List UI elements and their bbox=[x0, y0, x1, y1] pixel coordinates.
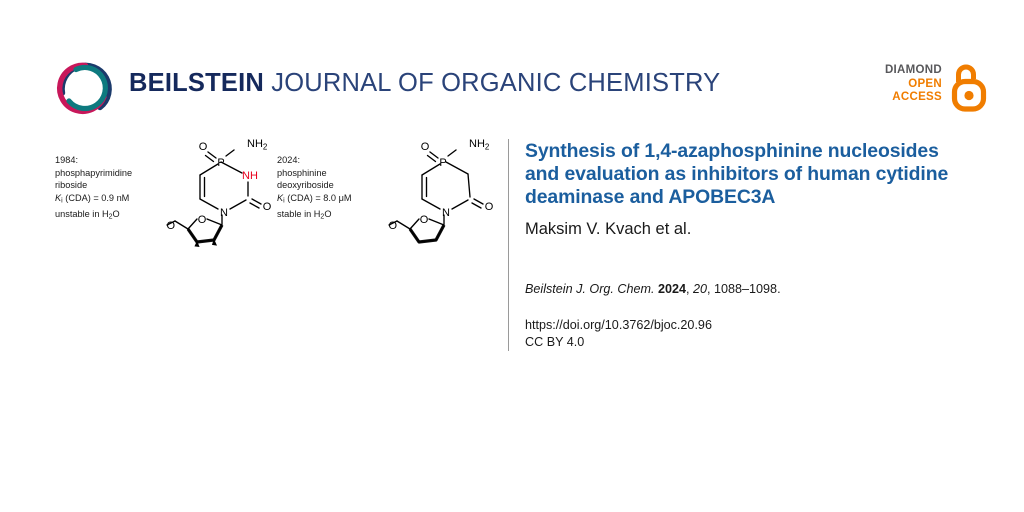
compound-caption-1984: 1984: phosphapyrimidine riboside Ki (CDA… bbox=[55, 154, 132, 224]
atom-label-HO: HO bbox=[388, 220, 397, 232]
caption-name-line1: phosphinine bbox=[277, 167, 352, 180]
masthead: BEILSTEIN JOURNAL OF ORGANIC CHEMISTRY D… bbox=[0, 0, 1024, 128]
atom-label-OH-2prime: OH bbox=[208, 246, 225, 247]
open-access-label: DIAMOND OPEN ACCESS bbox=[872, 64, 942, 105]
atom-label-NH2: NH2 bbox=[469, 138, 490, 152]
citation-separator: , bbox=[686, 282, 693, 296]
citation-pages: , 1088–1098. bbox=[707, 282, 781, 296]
oa-line-access: ACCESS bbox=[872, 91, 942, 105]
citation-year: 2024 bbox=[658, 282, 686, 296]
caption-ki: Ki (CDA) = 0.9 nM bbox=[55, 192, 132, 208]
caption-name-line1: phosphapyrimidine bbox=[55, 167, 132, 180]
stability-tail: O bbox=[113, 209, 120, 219]
stability-tail: O bbox=[324, 209, 331, 219]
diamond-open-access-badge: DIAMOND OPEN ACCESS bbox=[872, 62, 990, 114]
atom-label-OH-3prime: OH bbox=[188, 246, 205, 247]
oa-line-open: OPEN bbox=[872, 78, 942, 92]
beilstein-swirl-logo bbox=[54, 57, 116, 119]
journal-subtitle: JOURNAL OF ORGANIC CHEMISTRY bbox=[264, 69, 720, 97]
citation-volume: 20 bbox=[693, 282, 707, 296]
compound-caption-2024: 2024: phosphinine deoxyriboside Ki (CDA)… bbox=[277, 154, 352, 224]
ki-value: (CDA) = 8.0 μM bbox=[285, 193, 352, 203]
atom-label-HO: HO bbox=[166, 220, 175, 232]
column-divider bbox=[508, 139, 509, 351]
caption-ki: Ki (CDA) = 8.0 μM bbox=[277, 192, 352, 208]
caption-year: 1984: bbox=[55, 154, 132, 167]
atom-label-O4prime: O bbox=[198, 214, 207, 226]
atom-label-O-phosphoryl: O bbox=[421, 141, 430, 153]
caption-name-line2: deoxyriboside bbox=[277, 179, 352, 192]
graphical-abstract: 1984: phosphapyrimidine riboside Ki (CDA… bbox=[48, 132, 500, 247]
journal-title: BEILSTEIN JOURNAL OF ORGANIC CHEMISTRY bbox=[129, 71, 720, 97]
atom-label-O-carbonyl: O bbox=[485, 201, 494, 213]
atom-label-O-phosphoryl: O bbox=[199, 141, 208, 153]
doi-link[interactable]: https://doi.org/10.3762/bjoc.20.96 bbox=[525, 317, 975, 334]
caption-stability: stable in H2O bbox=[277, 208, 352, 224]
citation-journal: Beilstein J. Org. Chem. bbox=[525, 282, 654, 296]
atom-label-OH-3prime: OH bbox=[412, 246, 429, 247]
atom-label-P: P bbox=[217, 157, 224, 169]
journal-brand: BEILSTEIN bbox=[129, 69, 264, 97]
license-label: CC BY 4.0 bbox=[525, 334, 975, 351]
article-citation: Beilstein J. Org. Chem. 2024, 20, 1088–1… bbox=[525, 281, 975, 297]
atom-label-N: N bbox=[442, 207, 450, 219]
atom-label-P: P bbox=[439, 157, 446, 169]
caption-year: 2024: bbox=[277, 154, 352, 167]
open-lock-icon bbox=[950, 62, 988, 112]
stability-text: stable in H bbox=[277, 209, 320, 219]
phosphinine-deoxyriboside-structure: O P NH2 N O O HO OH bbox=[388, 132, 508, 247]
ki-value: (CDA) = 0.9 nM bbox=[63, 193, 130, 203]
oa-line-diamond: DIAMOND bbox=[872, 64, 942, 78]
article-info-panel: Synthesis of 1,4-azaphosphinine nucleosi… bbox=[525, 140, 975, 351]
article-authors: Maksim V. Kvach et al. bbox=[525, 219, 975, 239]
article-doi-block: https://doi.org/10.3762/bjoc.20.96 CC BY… bbox=[525, 317, 975, 351]
article-title: Synthesis of 1,4-azaphosphinine nucleosi… bbox=[525, 140, 975, 209]
caption-name-line2: riboside bbox=[55, 179, 132, 192]
atom-label-NH2: NH2 bbox=[247, 138, 268, 152]
phosphapyrimidine-riboside-structure: O P NH2 N O O HO NH OH OH bbox=[166, 132, 286, 247]
atom-label-N1: N bbox=[220, 207, 228, 219]
atom-label-O4prime: O bbox=[420, 214, 429, 226]
atom-label-NH-highlight: NH bbox=[242, 170, 258, 182]
atom-label-O-carbonyl: O bbox=[263, 201, 272, 213]
stability-text: unstable in H bbox=[55, 209, 109, 219]
caption-stability: unstable in H2O bbox=[55, 208, 132, 224]
